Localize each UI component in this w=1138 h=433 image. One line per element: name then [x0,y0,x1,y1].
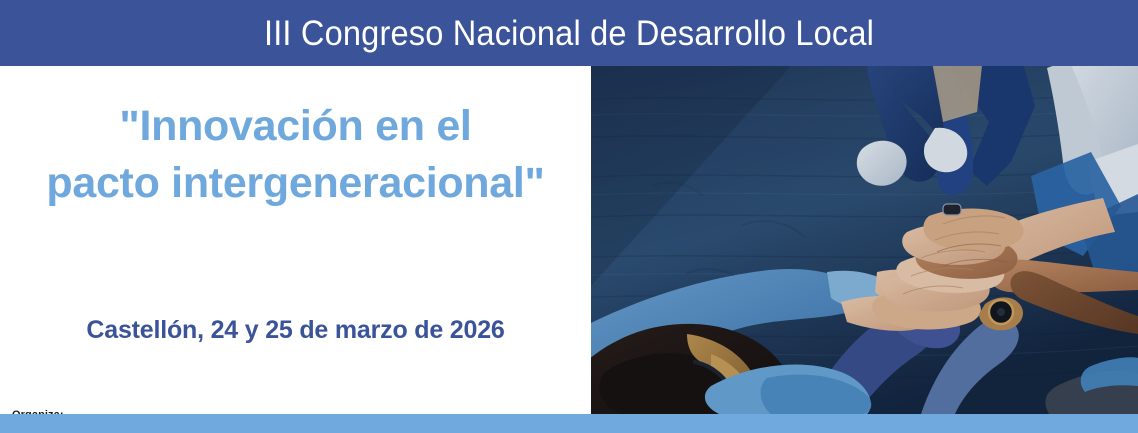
congress-slogan: "Innovación en el pacto intergeneraciona… [0,98,591,212]
left-content-panel: "Innovación en el pacto intergeneraciona… [0,66,591,414]
page-title: III Congreso Nacional de Desarrollo Loca… [264,16,874,51]
slogan-line-1: "Innovación en el [119,102,471,150]
teamwork-photo [591,66,1138,414]
header-bar: III Congreso Nacional de Desarrollo Loca… [0,0,1138,66]
congress-banner: III Congreso Nacional de Desarrollo Loca… [0,0,1138,433]
slogan-line-2: pacto intergeneracional" [0,155,591,212]
footer-accent-bar [0,414,1138,433]
event-date-location: Castellón, 24 y 25 de marzo de 2026 [0,316,591,345]
